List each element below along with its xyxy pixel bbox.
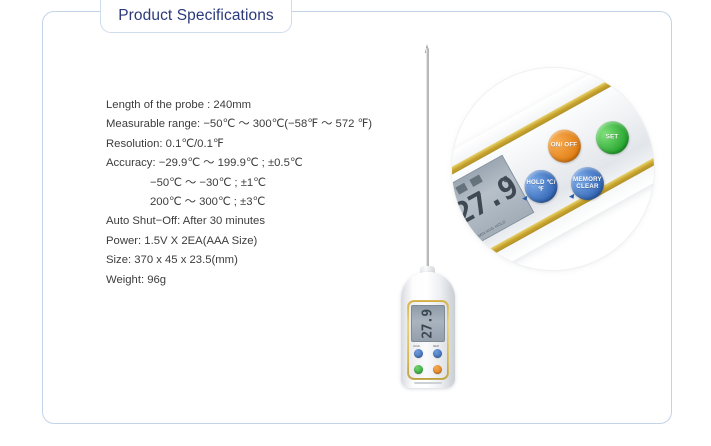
spec-line: Accuracy: −29.9℃ ～ 199.9℃ ; ±0.5℃ — [106, 154, 406, 173]
spec-line: Weight: 96g — [106, 271, 406, 290]
spec-line: Length of the probe : 240mm — [106, 96, 406, 115]
magnified-button-onoff-label: ON/ OFF — [551, 143, 578, 150]
magnified-detail-inset: KM LX880 27.9 ℃ MAX MIN AVG HOLD ON/ OFF… — [452, 68, 654, 270]
device-foot — [414, 382, 442, 384]
spec-line: Auto Shut−Off: After 30 minutes — [106, 212, 406, 231]
spec-line: Size: 370 x 45 x 23.5(mm) — [106, 251, 406, 270]
device-lcd-screen: 27.9 — [411, 305, 445, 342]
magnified-button-onoff[interactable]: ON/ OFF — [542, 124, 587, 169]
probe-needle — [426, 48, 429, 274]
device-button-memory[interactable] — [433, 349, 442, 358]
spec-line: Power: 1.5V X 2EA(AAA Size) — [106, 232, 406, 251]
device-lcd-reading: 27.9 — [421, 309, 436, 338]
magnified-device-slab: KM LX880 27.9 ℃ MAX MIN AVG HOLD ON/ OFF… — [452, 68, 654, 270]
device-button-onoff[interactable] — [433, 365, 442, 374]
device-button-hold-label: HOLD — [413, 345, 420, 348]
specification-list: Length of the probe : 240mmMeasurable ra… — [106, 96, 406, 290]
magnified-lcd-value: 27.9 — [452, 172, 522, 230]
magnified-button-set[interactable]: SET — [590, 115, 635, 160]
spec-line: Measurable range: −50℃ ～ 300℃(−58℉ ～ 572… — [106, 115, 406, 134]
spec-line: Resolution: 0.1℃/0.1℉ — [106, 135, 406, 154]
page-title: Product Specifications — [118, 7, 274, 25]
magnified-button-memory-label: MEMORY CLEAR — [571, 177, 604, 190]
magnified-button-set-label: SET — [606, 135, 619, 142]
spec-line: −50℃ ～ −30℃ ; ±1℃ — [106, 174, 406, 193]
spec-line: 200℃ ～ 300℃ ; ±3℃ — [106, 193, 406, 212]
device-button-memory-label: MEM — [433, 345, 439, 348]
page-title-tab: Product Specifications — [100, 0, 292, 33]
device-button-hold[interactable] — [414, 349, 423, 358]
device-button-set[interactable] — [414, 365, 423, 374]
magnified-button-hold-label: HOLD ℃/℉ — [525, 180, 558, 193]
